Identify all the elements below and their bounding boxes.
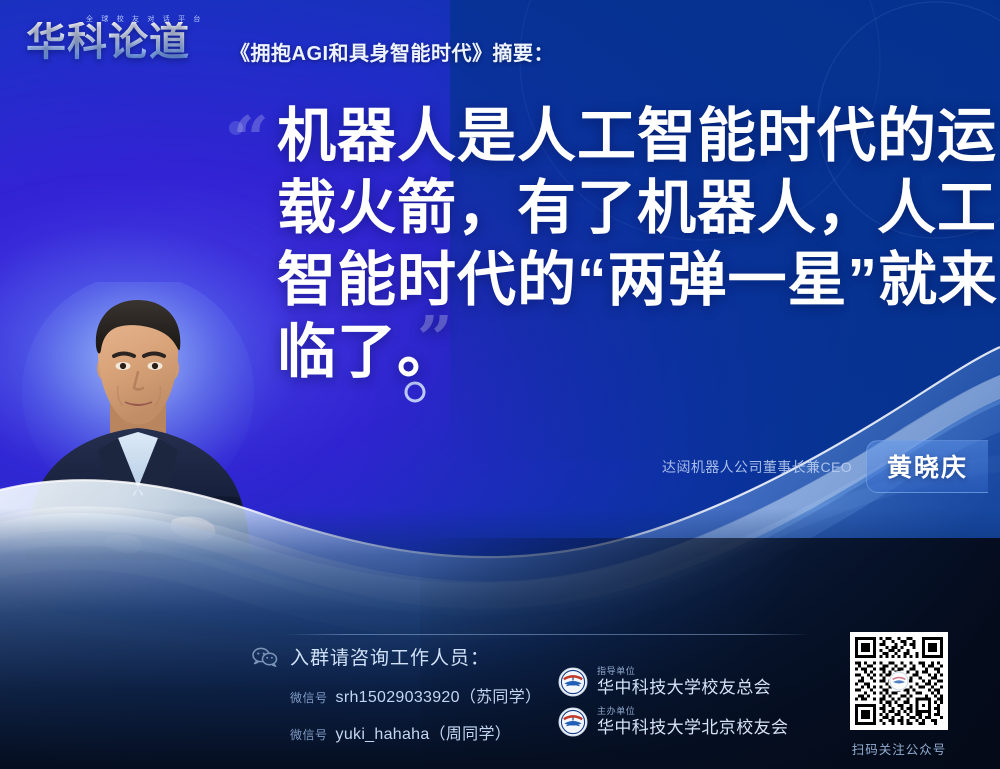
poster-canvas: 全 球 校 友 对 话 平 台 华科论道 《拥抱AGI和具身智能时代》摘要： “… (0, 0, 1000, 769)
contact-label: 微信号 (290, 689, 328, 706)
contact-row[interactable]: 微信号 srh15029033920（苏同学） (252, 683, 582, 707)
qr-caption: 扫码关注公众号 (843, 739, 955, 758)
qr-center-logo-icon (889, 671, 909, 691)
university-seal-icon (558, 707, 588, 737)
contact-value: yuki_hahaha（周同学） (336, 720, 512, 744)
brand-logo-text: 华科论道 (26, 22, 190, 62)
brand-logo[interactable]: 全 球 校 友 对 话 平 台 华科论道 (26, 18, 216, 70)
footer-contact-block: 入群请咨询工作人员： 微信号 srh15029033920（苏同学） 微信号 y… (252, 643, 582, 744)
organizer-texts: 指导单位 华中科技大学校友总会 (597, 667, 771, 696)
wechat-icon (252, 647, 278, 667)
quote-text-block: 机器人是人工智能时代的运 载火箭，有了机器人，人工 智能时代的“两弹一星”就来 … (277, 100, 957, 388)
quote-close-mark: ” (417, 308, 454, 370)
organizer-list: 指导单位 华中科技大学校友总会 主办单位 华中科技大学北京校友会 (558, 667, 788, 747)
qr-block: 扫码关注公众号 (843, 632, 955, 758)
organizer-kicker: 主办单位 (597, 707, 788, 716)
organizer-texts: 主办单位 华中科技大学北京校友会 (597, 707, 788, 736)
organizer-kicker: 指导单位 (597, 667, 771, 676)
university-seal-icon (558, 667, 588, 697)
speaker-name-badge: 黄晓庆 (866, 440, 988, 493)
contact-label: 微信号 (290, 726, 328, 743)
organizer-row: 指导单位 华中科技大学校友总会 (558, 667, 788, 697)
footer-title: 入群请咨询工作人员： (290, 643, 490, 670)
quote-line: 智能时代的“两弹一星”就来 (277, 244, 957, 316)
quote-line: 载火箭，有了机器人，人工 (277, 172, 957, 244)
footer-heading-row: 入群请咨询工作人员： (252, 643, 582, 670)
organizer-name: 华中科技大学北京校友会 (597, 719, 788, 737)
contact-value: srh15029033920（苏同学） (336, 683, 542, 707)
quote-line: 临了。 ” (277, 316, 957, 388)
organizer-row: 主办单位 华中科技大学北京校友会 (558, 707, 788, 737)
qr-code[interactable] (850, 632, 948, 730)
contact-row[interactable]: 微信号 yuki_hahaha（周同学） (252, 720, 582, 744)
quote-line: 机器人是人工智能时代的运 (277, 100, 957, 172)
poster-header: 全 球 校 友 对 话 平 台 华科论道 《拥抱AGI和具身智能时代》摘要： (26, 18, 554, 70)
quote-open-mark: “ (233, 108, 269, 170)
speaker-role: 达闼机器人公司董事长兼CEO (662, 457, 852, 477)
footer-divider (285, 634, 810, 635)
speaker-attribution: 达闼机器人公司董事长兼CEO 黄晓庆 (662, 440, 988, 493)
organizer-name: 华中科技大学校友总会 (597, 679, 771, 697)
page-title: 《拥抱AGI和具身智能时代》摘要： (230, 37, 554, 70)
